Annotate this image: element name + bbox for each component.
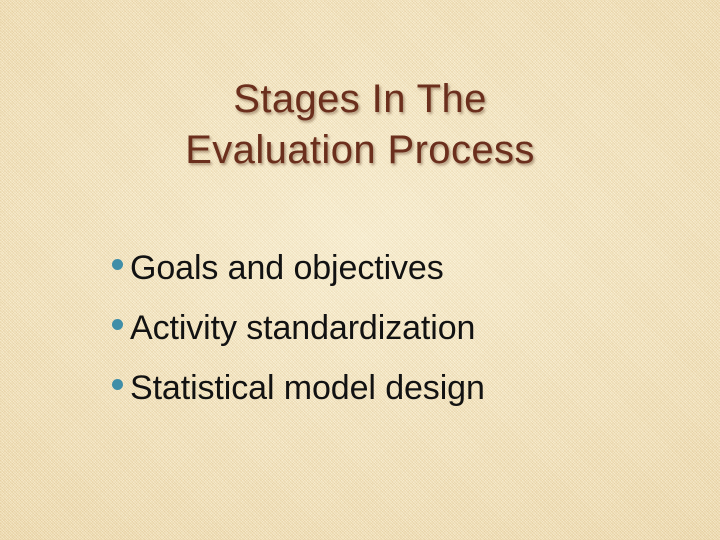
presentation-slide: Stages In The Evaluation Process Goals a…: [0, 0, 720, 540]
list-item: Goals and objectives: [112, 248, 680, 308]
bullet-list: Goals and objectives Activity standardiz…: [112, 248, 680, 428]
bullet-dot-icon: [112, 259, 123, 270]
bullet-item-label: Activity standardization: [130, 308, 475, 348]
slide-content: Stages In The Evaluation Process Goals a…: [0, 0, 720, 540]
slide-title: Stages In The Evaluation Process: [0, 74, 720, 176]
bullet-dot-icon: [112, 379, 123, 390]
bullet-dot-icon: [112, 319, 123, 330]
list-item: Statistical model design: [112, 368, 680, 428]
list-item: Activity standardization: [112, 308, 680, 368]
slide-title-line-1: Stages In The: [0, 74, 720, 125]
slide-title-line-2: Evaluation Process: [0, 125, 720, 176]
bullet-item-label: Goals and objectives: [130, 248, 444, 288]
bullet-item-label: Statistical model design: [130, 368, 485, 408]
